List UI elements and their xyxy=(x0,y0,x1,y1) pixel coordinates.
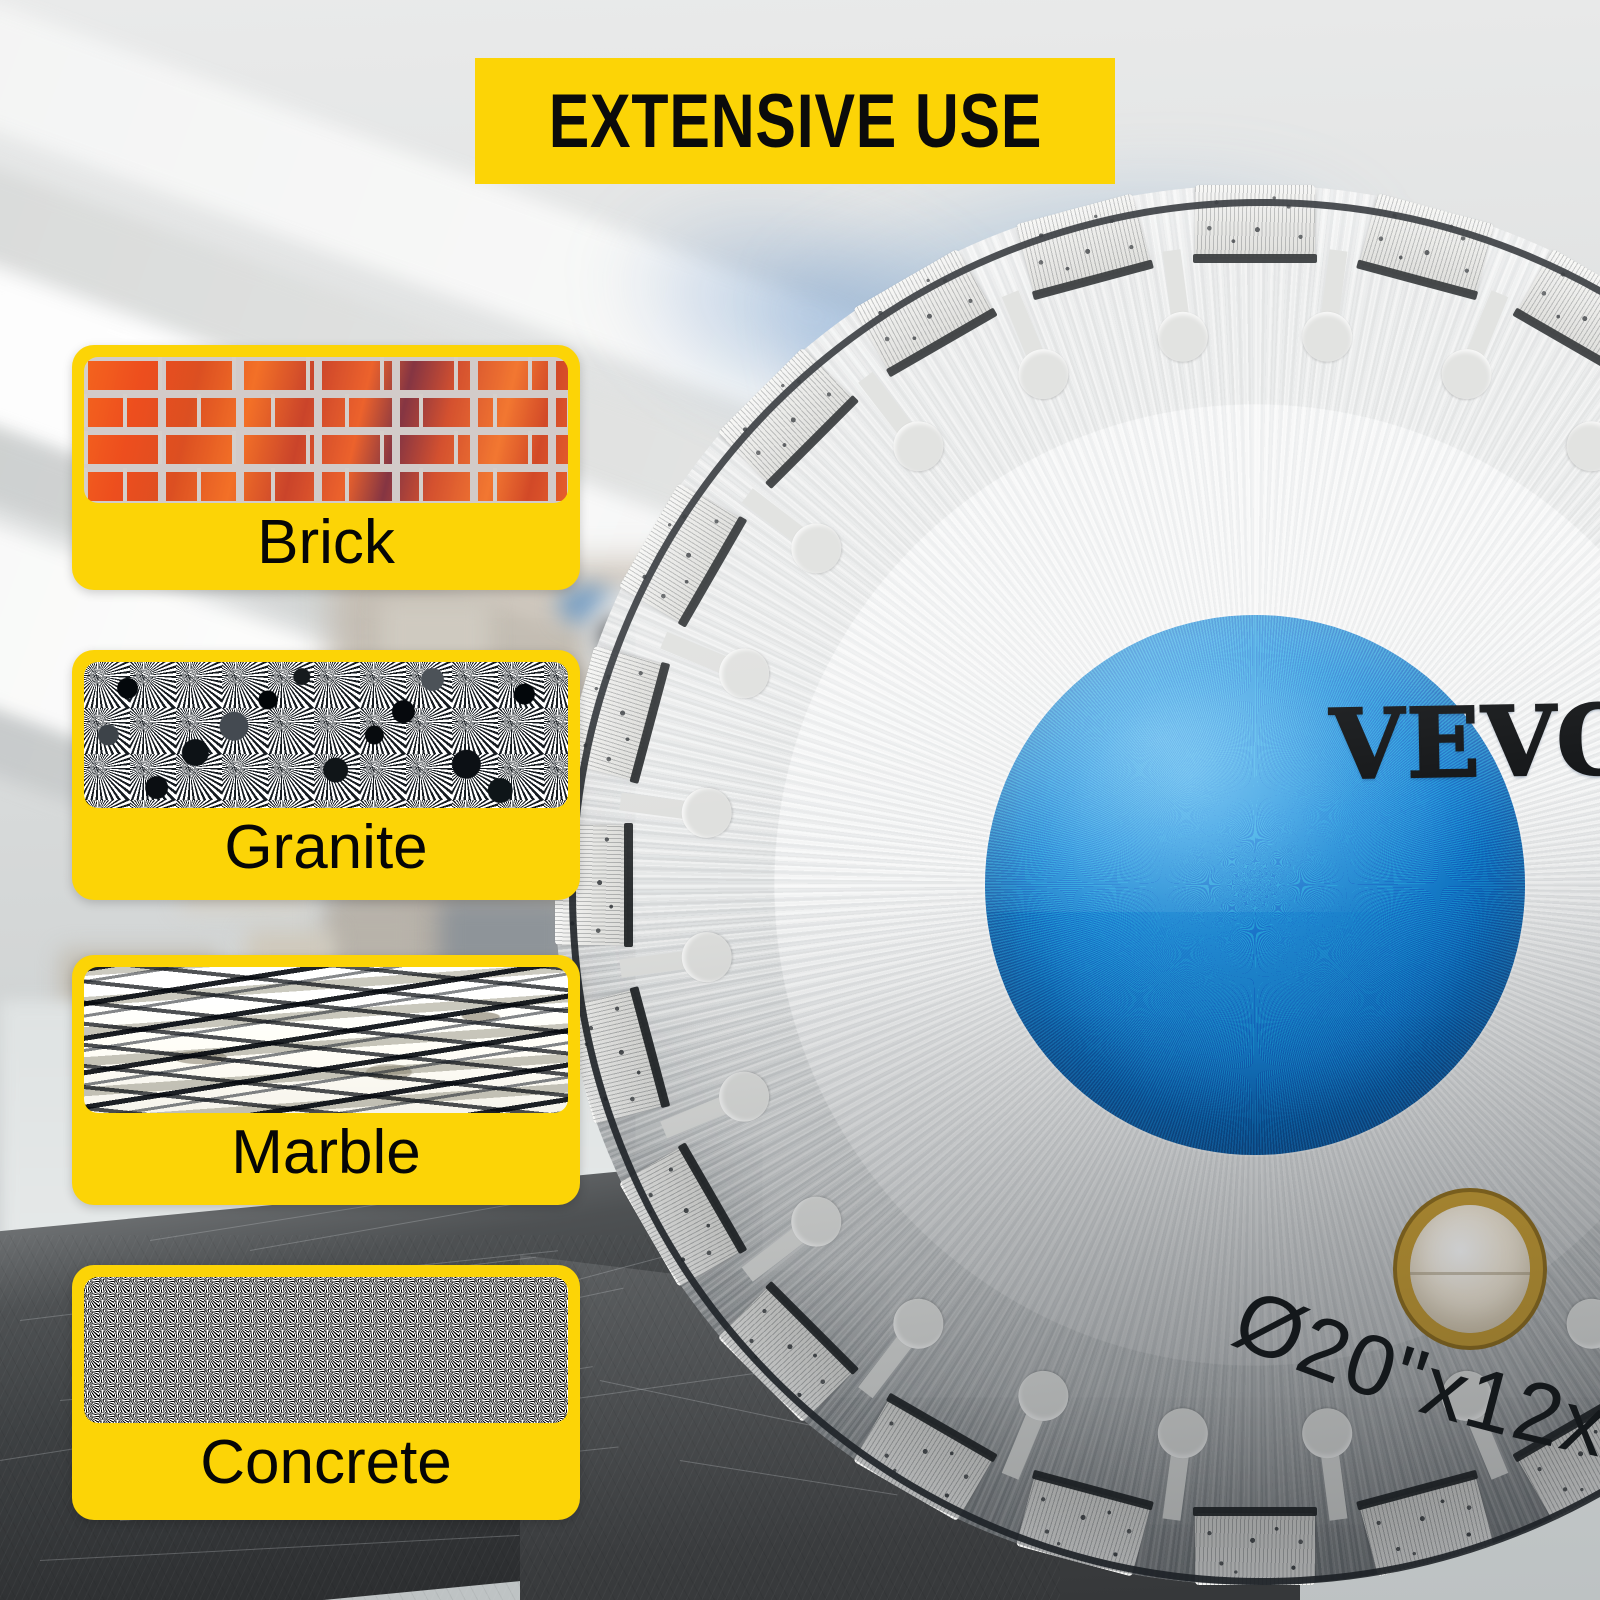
marble-icon xyxy=(84,967,568,1113)
product-marketing-image: VEVOR Ø20"x12x xyxy=(0,0,1600,1600)
material-card-marble[interactable]: Marble xyxy=(72,955,580,1205)
banner-title: EXTENSIVE USE xyxy=(548,78,1042,165)
concrete-texture-image xyxy=(84,1277,568,1423)
granite-icon xyxy=(84,662,568,808)
arbor-hole xyxy=(1410,1205,1530,1333)
brick-icon xyxy=(84,357,568,503)
concrete-icon xyxy=(84,1277,568,1423)
granite-texture-image xyxy=(84,662,568,808)
material-card-brick[interactable]: Brick xyxy=(72,345,580,590)
brick-rows xyxy=(84,357,568,503)
material-label: Brick xyxy=(72,510,580,575)
diamond-saw-blade: VEVOR Ø20"x12x xyxy=(555,185,1600,1585)
marble-texture-image xyxy=(84,967,568,1113)
header-banner: EXTENSIVE USE xyxy=(475,58,1115,184)
brick-texture-image xyxy=(84,357,568,503)
brand-logo: VEVOR xyxy=(1329,682,1600,802)
material-label: Marble xyxy=(72,1120,580,1185)
material-card-concrete[interactable]: Concrete xyxy=(72,1265,580,1520)
material-label: Granite xyxy=(72,815,580,880)
brick-row xyxy=(84,468,568,501)
material-card-granite[interactable]: Granite xyxy=(72,650,580,900)
material-label: Concrete xyxy=(72,1430,580,1495)
brick-row xyxy=(84,394,568,427)
brick-row xyxy=(84,357,568,390)
brick-row xyxy=(84,431,568,464)
arbor-highlight xyxy=(1410,1272,1530,1275)
